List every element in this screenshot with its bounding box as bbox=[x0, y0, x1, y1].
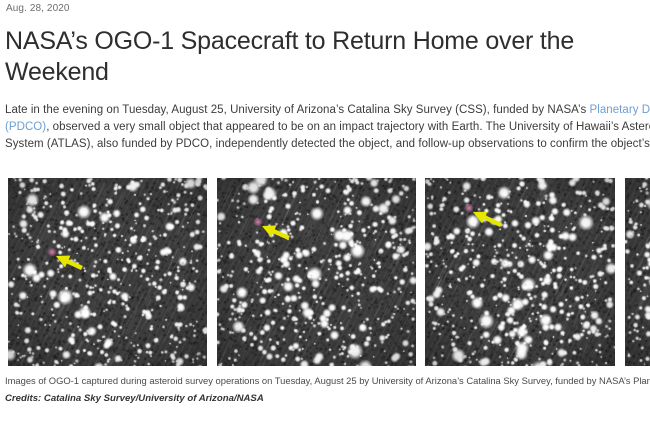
page-title: NASA’s OGO-1 Spacecraft to Return Home o… bbox=[5, 26, 605, 88]
ogo-1-target-marker bbox=[465, 204, 474, 212]
ogo-1-target-marker bbox=[48, 248, 57, 256]
sky-survey-panel-1 bbox=[8, 174, 207, 370]
ogo-1-target-marker bbox=[254, 218, 263, 226]
sky-survey-panel-3 bbox=[425, 174, 615, 370]
sky-survey-panel-4 bbox=[625, 174, 650, 370]
figure-caption-block: Images of OGO-1 captured during asteroid… bbox=[5, 374, 650, 405]
starfield-canvas bbox=[625, 174, 650, 370]
figure-credits: Credits: Catalina Sky Survey/University … bbox=[5, 392, 650, 405]
starfield-canvas bbox=[217, 174, 416, 370]
paragraph-segment-1: Late in the evening on Tuesday, August 2… bbox=[5, 104, 590, 116]
starfield-canvas bbox=[8, 174, 207, 370]
article-page: Aug. 28, 2020 NASA’s OGO-1 Spacecraft to… bbox=[0, 0, 650, 421]
sky-survey-image-strip bbox=[0, 174, 650, 373]
intro-paragraph: Late in the evening on Tuesday, August 2… bbox=[5, 102, 650, 154]
starfield-canvas bbox=[425, 174, 615, 370]
figure-caption: Images of OGO-1 captured during asteroid… bbox=[5, 374, 650, 388]
paragraph-segment-3: , observed a very small object that appe… bbox=[5, 121, 650, 150]
publication-date: Aug. 28, 2020 bbox=[6, 2, 70, 15]
article-body: Late in the evening on Tuesday, August 2… bbox=[5, 102, 650, 154]
sky-survey-panel-2 bbox=[217, 174, 416, 370]
planetary-defense-link[interactable]: Planetary Defense Coordination Office bbox=[590, 104, 650, 116]
pdco-link[interactable]: (PDCO) bbox=[5, 121, 46, 133]
